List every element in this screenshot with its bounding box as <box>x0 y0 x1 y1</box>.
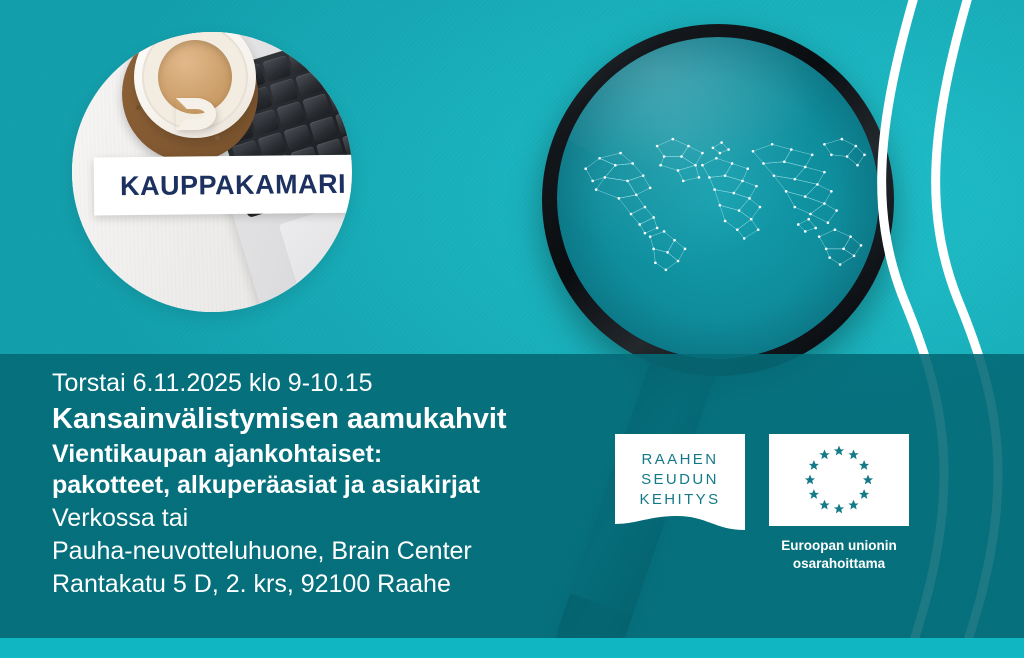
eu-logo-block: Euroopan unionin osarahoittama <box>769 434 909 573</box>
event-details: Torstai 6.11.2025 klo 9-10.15 Kansainväl… <box>52 368 612 601</box>
poster-canvas: KAUPPAKAMARI Torstai 6.11.2025 klo 9-10.… <box>0 0 1024 658</box>
keyboard-key <box>269 78 298 105</box>
raahen-line-1: RAAHEN <box>642 451 719 468</box>
logo-row: RAAHEN SEUDUN KEHITYS <box>615 434 909 573</box>
eu-caption: Euroopan unionin osarahoittama <box>769 537 909 573</box>
raahen-line-3: KEHITYS <box>640 491 721 508</box>
eu-flag <box>769 434 909 526</box>
keyboard-key <box>257 131 286 158</box>
keyboard-key <box>335 108 352 135</box>
keyboard-key <box>295 70 324 97</box>
keyboard-key <box>288 47 317 74</box>
event-subtitle-2: pakotteet, alkuperäasiat ja asiakirjat <box>52 470 612 502</box>
keyboard-key <box>262 55 291 82</box>
raahen-line-2: SEUDUN <box>641 471 719 488</box>
magnifier-ring <box>542 24 894 376</box>
keyboard-key <box>321 62 350 89</box>
eu-flag-stars-icon <box>791 441 887 519</box>
event-info-panel: Torstai 6.11.2025 klo 9-10.15 Kansainväl… <box>0 354 1024 638</box>
raahen-logo-shape: RAAHEN SEUDUN KEHITYS <box>615 434 745 530</box>
event-title: Kansainvälistymisen aamukahvit <box>52 401 612 439</box>
keyboard-key <box>283 123 312 150</box>
eu-caption-line-1: Euroopan unionin <box>769 537 909 555</box>
keyboard-key <box>328 85 352 112</box>
kauppakamari-label: KAUPPAKAMARI <box>120 168 346 201</box>
keyboard-key <box>314 39 343 66</box>
keyboard-key <box>302 93 331 120</box>
event-subtitle-1: Vientikaupan ajankohtaiset: <box>52 439 612 471</box>
raahen-seudun-kehitys-logo: RAAHEN SEUDUN KEHITYS <box>615 434 745 530</box>
kauppakamari-banner: KAUPPAKAMARI <box>94 155 352 216</box>
network-world-map-icon <box>570 114 866 288</box>
eu-caption-line-2: osarahoittama <box>769 555 909 573</box>
event-date: Torstai 6.11.2025 klo 9-10.15 <box>52 368 612 399</box>
magnifier-ring-inner <box>557 37 879 359</box>
event-venue-2: Pauha-neuvotteluhuone, Brain Center <box>52 535 612 568</box>
event-venue-3: Rantakatu 5 D, 2. krs, 92100 Raahe <box>52 568 612 601</box>
keyboard-key <box>276 101 305 128</box>
bottom-accent-strip <box>0 638 1024 658</box>
event-photo-circle: KAUPPAKAMARI <box>72 32 352 312</box>
event-venue-1: Verkossa tai <box>52 502 612 535</box>
keyboard-key <box>309 116 338 143</box>
cup-handle <box>176 98 216 130</box>
